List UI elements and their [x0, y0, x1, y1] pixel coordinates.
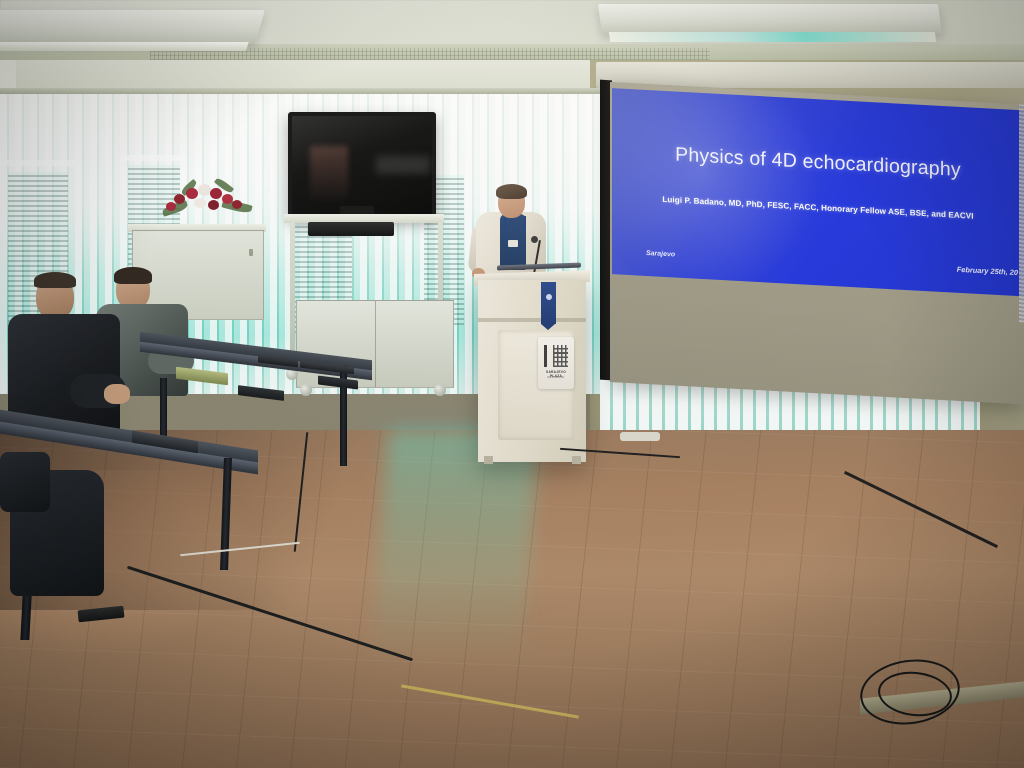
tv-screen-reflection — [310, 146, 348, 204]
bag-secondary — [0, 452, 50, 512]
podium-banner — [541, 282, 556, 324]
slide-date: February 25th, 20 — [957, 265, 1018, 277]
projector-glow — [612, 88, 822, 296]
banner-seal-icon — [546, 294, 552, 300]
cabinet-caster — [434, 384, 446, 396]
floor-power-block — [620, 432, 660, 441]
screen-right-edge — [1019, 104, 1024, 322]
podium-seam — [478, 318, 586, 322]
slide-location: Sarajevo — [646, 250, 675, 259]
plaza-building-icon — [544, 345, 568, 367]
wall-tv — [288, 112, 436, 218]
speaker-hair — [496, 184, 527, 199]
cabinet-caster — [300, 384, 312, 396]
plaque-subtitle: RESIDENCE — [541, 376, 571, 379]
podium-foot — [572, 456, 581, 464]
projection-screen: Physics of 4D echocardiography Luigi P. … — [610, 82, 1024, 404]
cabinet-handle[interactable] — [249, 249, 253, 256]
plaza-building-windows — [553, 345, 568, 367]
av-equipment — [308, 222, 394, 236]
speaker-badge — [508, 240, 518, 247]
speaker-lanyard — [504, 216, 526, 238]
window-frame — [0, 160, 76, 166]
window-frame — [120, 155, 186, 161]
tv-screen-glare — [376, 156, 430, 174]
podium-foot — [484, 456, 493, 464]
ceiling-light-left — [0, 10, 265, 44]
lecture-room-photo: Physics of 4D echocardiography Luigi P. … — [0, 0, 1024, 768]
projected-slide: Physics of 4D echocardiography Luigi P. … — [612, 88, 1024, 296]
podium-plaque: SARAJEVO PLAZA RESIDENCE — [538, 337, 574, 389]
ceiling-light-right — [598, 4, 942, 34]
floral-arrangement — [160, 178, 258, 226]
cabinet-divider — [375, 301, 376, 387]
microphone-head-icon — [531, 236, 538, 243]
